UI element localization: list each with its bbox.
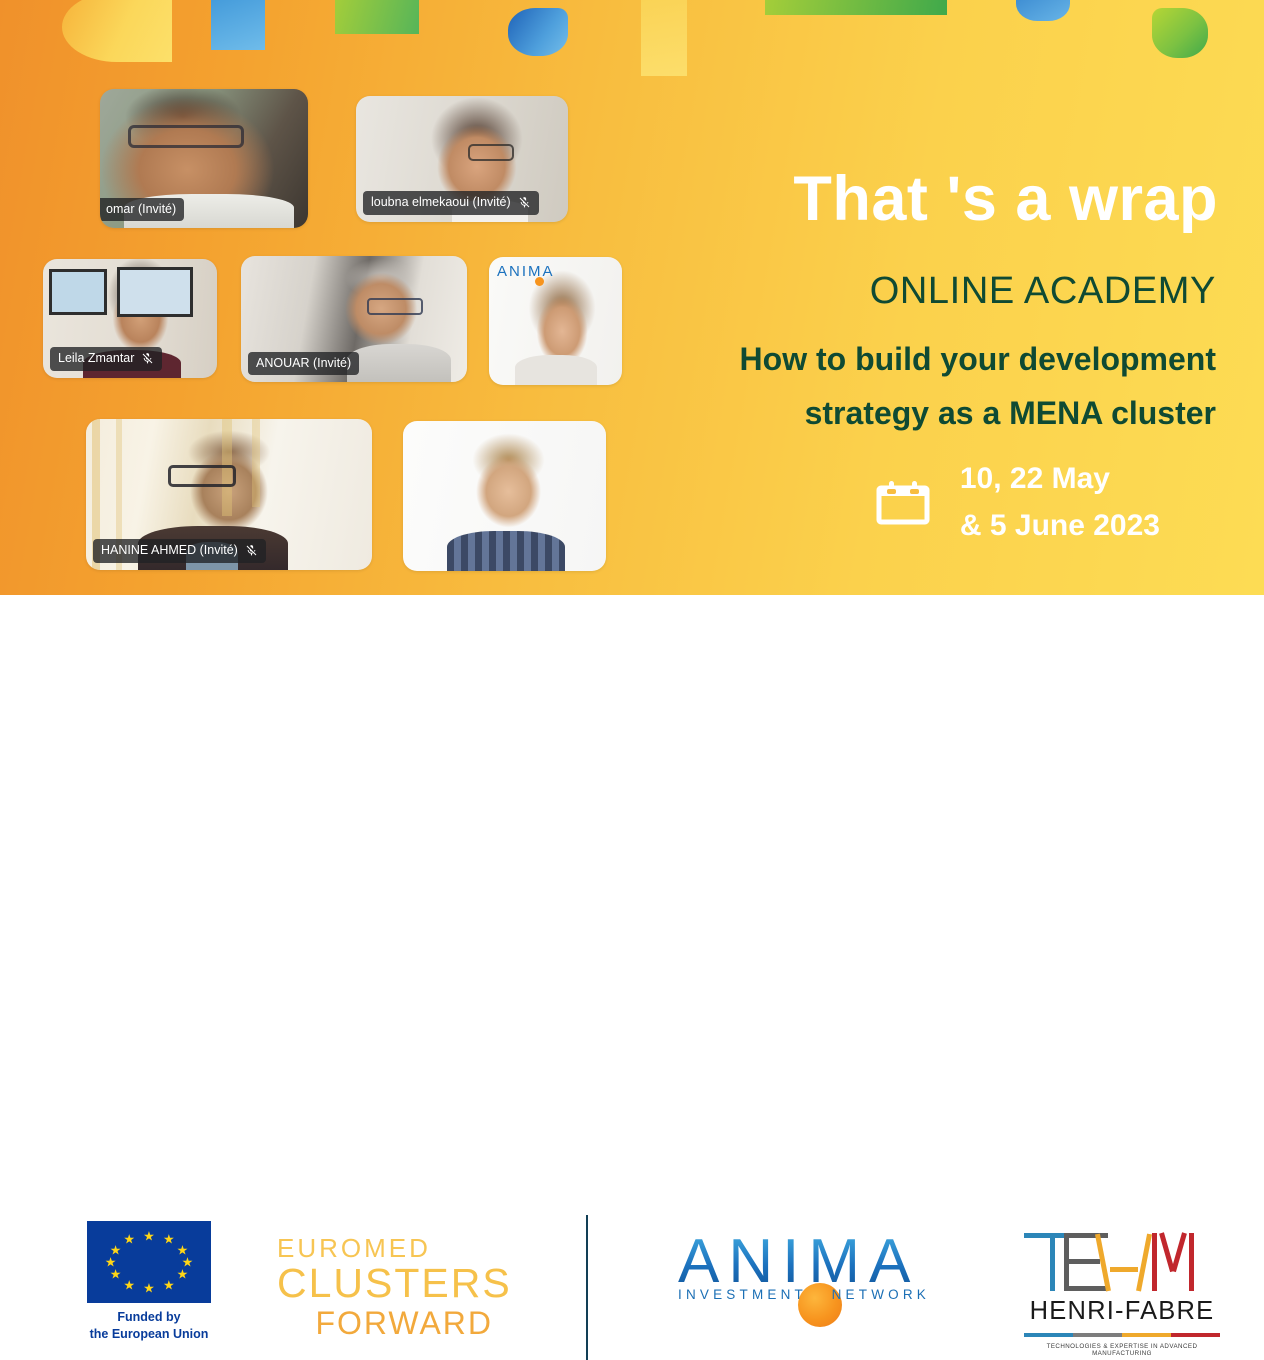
euromed-line-3: FORWARD: [277, 1307, 493, 1340]
anima-tagline-right: NETWORK: [832, 1287, 930, 1302]
leaf-green-icon: [1152, 8, 1208, 58]
team-tagline: TECHNOLOGIES & EXPERTISE IN ADVANCED MAN…: [1024, 1343, 1220, 1357]
eu-caption-line-1: Funded by: [74, 1309, 224, 1326]
page-title: That 's a wrap: [793, 168, 1218, 231]
anima-watermark-logo: ANIMA: [497, 263, 555, 280]
sponsor-footer: ★ ★ ★ ★ ★ ★ ★ ★ ★ ★ ★ ★ Funded by the Eu…: [0, 595, 1264, 784]
team-color-rule: [1024, 1333, 1220, 1337]
anima-tagline: INVESTMENT NETWORK: [678, 1287, 930, 1302]
participant-name: HANINE AHMED (Invité): [101, 544, 238, 557]
promo-banner: omar (Invité) loubna elmekaoui (Invité) …: [0, 0, 1264, 595]
participant-name-badge: Leila Zmantar: [50, 347, 162, 371]
euromed-line-2: CLUSTERS: [277, 1263, 493, 1305]
description-line-2: strategy as a MENA cluster: [616, 387, 1216, 441]
mic-off-icon: [245, 544, 258, 557]
team-henri-fabre-logo: HENRI-FABRE TECHNOLOGIES & EXPERTISE IN …: [1024, 1229, 1220, 1357]
eu-funding-logo: ★ ★ ★ ★ ★ ★ ★ ★ ★ ★ ★ ★ Funded by the Eu…: [87, 1221, 224, 1342]
rect-yellow-icon: [641, 0, 687, 76]
event-date-block: 10, 22 May & 5 June 2023: [874, 456, 1160, 549]
video-feed: [403, 421, 606, 571]
video-tile-participant[interactable]: omar (Invité): [100, 89, 308, 228]
mic-off-icon: [518, 196, 531, 209]
euromed-clusters-forward-logo: EUROMED CLUSTERS FORWARD: [277, 1235, 493, 1339]
participant-name: ANOUAR (Invité): [256, 357, 351, 370]
event-date: 10, 22 May & 5 June 2023: [960, 456, 1160, 549]
euromed-line-1: EUROMED: [277, 1235, 493, 1261]
subtitle: ONLINE ACADEMY: [870, 272, 1216, 310]
rect-green-right-icon: [765, 0, 947, 15]
footer-divider: [586, 1215, 588, 1360]
participant-name-badge: loubna elmekaoui (Invité): [363, 191, 539, 215]
video-tile-participant[interactable]: ANOUAR (Invité): [241, 256, 467, 382]
participant-name-badge: HANINE AHMED (Invité): [93, 539, 266, 563]
participant-name-badge: ANOUAR (Invité): [248, 352, 359, 376]
description-line-1: How to build your development: [616, 333, 1216, 387]
rect-green-icon: [335, 0, 419, 34]
mic-off-icon: [141, 352, 154, 365]
event-date-line-1: 10, 22 May: [960, 456, 1160, 503]
team-name: HENRI-FABRE: [1024, 1297, 1220, 1326]
team-monogram-icon: [1024, 1229, 1220, 1291]
calendar-icon: [874, 474, 932, 532]
anima-wordmark: ANIMA: [678, 1231, 930, 1293]
participant-name: omar (Invité): [106, 203, 176, 216]
leaf-blue-icon: [508, 8, 568, 56]
event-date-line-2: & 5 June 2023: [960, 503, 1160, 550]
video-tile-participant[interactable]: loubna elmekaoui (Invité): [356, 96, 568, 222]
participant-name-badge: omar (Invité): [100, 198, 184, 222]
participant-name: Leila Zmantar: [58, 352, 134, 365]
rect-blue-icon: [211, 0, 265, 50]
eu-flag-icon: ★ ★ ★ ★ ★ ★ ★ ★ ★ ★ ★ ★: [87, 1221, 211, 1303]
anima-tagline-left: INVESTMENT: [678, 1287, 807, 1302]
video-tile-participant[interactable]: [403, 421, 606, 571]
quarter-circle-yellow-icon: [62, 0, 172, 62]
leaf-blue-small-icon: [1016, 0, 1070, 21]
video-feed: ANIMA: [489, 257, 622, 385]
video-tile-participant[interactable]: ANIMA: [489, 257, 622, 385]
video-tile-participant[interactable]: HANINE AHMED (Invité): [86, 419, 372, 570]
eu-funding-caption: Funded by the European Union: [74, 1309, 224, 1342]
anima-logo: ANIMA INVESTMENT NETWORK: [678, 1231, 930, 1302]
description: How to build your development strategy a…: [616, 333, 1216, 441]
participant-name: loubna elmekaoui (Invité): [371, 196, 511, 209]
video-tile-participant[interactable]: Leila Zmantar: [43, 259, 217, 378]
eu-caption-line-2: the European Union: [74, 1326, 224, 1343]
